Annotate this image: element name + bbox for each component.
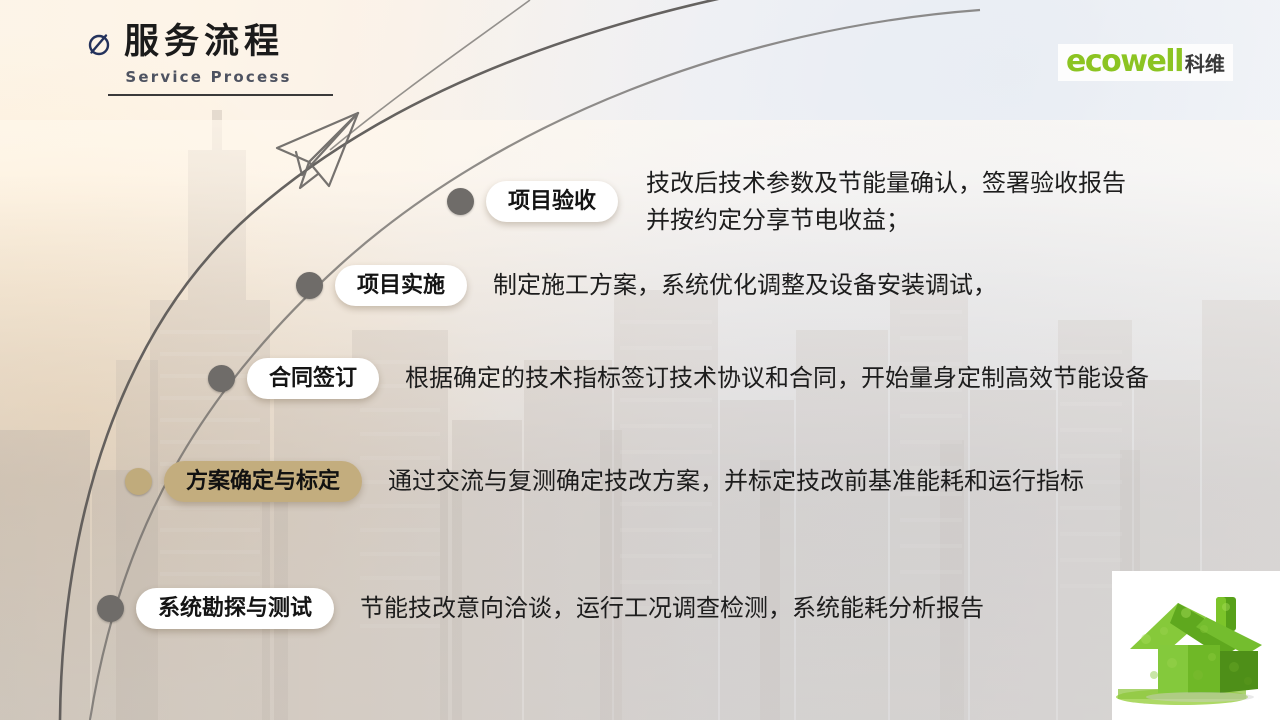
step-dot: [125, 468, 152, 495]
process-step-1[interactable]: 项目验收 技改后技术参数及节能量确认，签署验收报告 并按约定分享节电收益；: [447, 163, 1126, 239]
process-step-3[interactable]: 合同签订 根据确定的技术指标签订技术协议和合同，开始量身定制高效节能设备: [208, 358, 1149, 399]
step-description: 根据确定的技术指标签订技术协议和合同，开始量身定制高效节能设备: [405, 360, 1149, 397]
step-dot: [97, 595, 124, 622]
page-subtitle: Service Process: [86, 68, 331, 86]
paper-plane-icon: [277, 113, 358, 188]
process-step-5[interactable]: 系统勘探与测试 节能技改意向洽谈，运行工况调查检测，系统能耗分析报告: [97, 588, 984, 629]
step-description-line: 根据确定的技术指标签订技术协议和合同，开始量身定制高效节能设备: [405, 360, 1149, 397]
step-description: 制定施工方案，系统优化调整及设备安装调试，: [493, 267, 997, 304]
step-description-line: 并按约定分享节电收益；: [646, 202, 1126, 239]
step-description: 通过交流与复测确定技改方案，并标定技改前基准能耗和运行指标: [388, 463, 1084, 500]
step-label-pill[interactable]: 合同签订: [247, 358, 379, 399]
brand-logo-word: ecowell: [1066, 47, 1183, 77]
step-dot: [296, 272, 323, 299]
step-label-pill[interactable]: 项目验收: [486, 181, 618, 222]
step-description-line: 节能技改意向洽谈，运行工况调查检测，系统能耗分析报告: [360, 590, 984, 627]
process-step-2[interactable]: 项目实施 制定施工方案，系统优化调整及设备安装调试，: [296, 265, 997, 306]
step-dot: [208, 365, 235, 392]
step-description: 节能技改意向洽谈，运行工况调查检测，系统能耗分析报告: [360, 590, 984, 627]
step-description-line: 技改后技术参数及节能量确认，签署验收报告: [646, 165, 1126, 202]
brand-logo-cn: 科维: [1185, 55, 1225, 75]
step-description-line: 制定施工方案，系统优化调整及设备安装调试，: [493, 267, 997, 304]
step-description: 技改后技术参数及节能量确认，签署验收报告 并按约定分享节电收益；: [646, 165, 1126, 239]
slide-canvas: 服务流程 Service Process ecowell 科维 项目验收 技改后…: [0, 0, 1280, 720]
green-grass-house-image: [1112, 571, 1280, 720]
brand-logo: ecowell 科维: [1058, 44, 1233, 81]
step-label-pill[interactable]: 方案确定与标定: [164, 461, 362, 502]
step-label-pill[interactable]: 系统勘探与测试: [136, 588, 334, 629]
slide-header: 服务流程 Service Process: [86, 24, 416, 96]
step-description-line: 通过交流与复测确定技改方案，并标定技改前基准能耗和运行指标: [388, 463, 1084, 500]
step-label-pill[interactable]: 项目实施: [335, 265, 467, 306]
step-dot: [447, 188, 474, 215]
process-step-4[interactable]: 方案确定与标定 通过交流与复测确定技改方案，并标定技改前基准能耗和运行指标: [125, 461, 1084, 502]
page-title: 服务流程: [124, 24, 284, 61]
header-divider: [108, 94, 333, 96]
slashed-circle-icon: [86, 31, 112, 57]
